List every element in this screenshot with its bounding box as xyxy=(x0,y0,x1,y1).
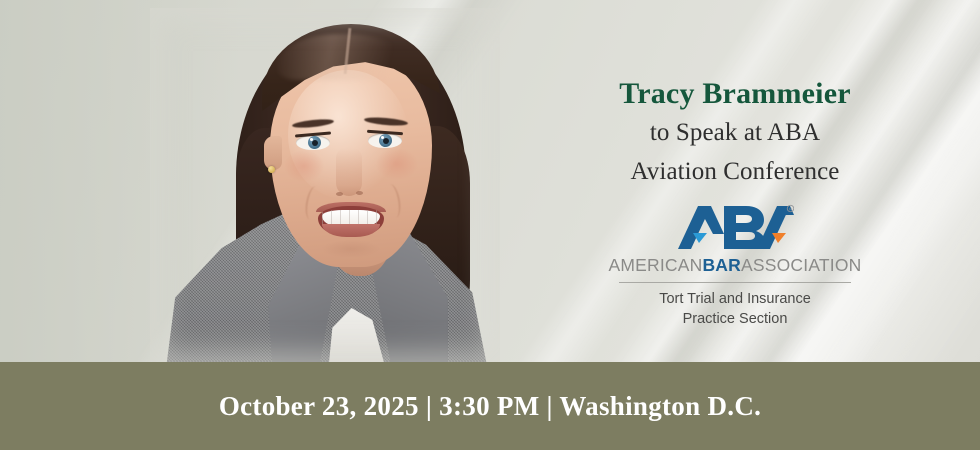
aba-wordmark: AMERICANBARASSOCIATION xyxy=(490,255,980,276)
aba-section-name: Tort Trial and Insurance Practice Sectio… xyxy=(490,290,980,329)
portrait-pupil-right xyxy=(383,138,389,144)
aba-logo-icon: R xyxy=(676,203,794,251)
portrait-nostril-right xyxy=(356,191,363,195)
speaker-portrait xyxy=(150,8,500,363)
aba-wordmark-american: AMERICAN xyxy=(608,255,702,275)
aba-section-line-1: Tort Trial and Insurance xyxy=(490,290,980,310)
portrait-chin-shadow xyxy=(322,240,380,258)
event-announcement-banner: Tracy Brammeier to Speak at ABA Aviation… xyxy=(0,0,980,450)
portrait-eye-glint-left xyxy=(310,138,313,141)
portrait-nostril-left xyxy=(336,192,343,196)
aba-divider-rule xyxy=(619,282,851,283)
aba-wordmark-bar: BAR xyxy=(702,255,741,275)
portrait-earring xyxy=(268,166,275,173)
svg-text:R: R xyxy=(789,206,792,211)
aba-section-line-2: Practice Section xyxy=(490,310,980,330)
portrait-cheek-left xyxy=(284,150,324,182)
speaker-name: Tracy Brammeier xyxy=(490,78,980,110)
event-details-bar: October 23, 2025 | 3:30 PM | Washington … xyxy=(0,362,980,450)
portrait-eye-glint-right xyxy=(381,136,384,139)
aba-wordmark-association: ASSOCIATION xyxy=(741,255,862,275)
portrait-pupil-left xyxy=(312,140,318,146)
portrait-nose xyxy=(336,148,362,196)
headline-line-2: to Speak at ABA xyxy=(490,117,980,150)
headline-block: Tracy Brammeier to Speak at ABA Aviation… xyxy=(490,78,980,189)
event-details-text: October 23, 2025 | 3:30 PM | Washington … xyxy=(219,391,761,422)
portrait-ear-left xyxy=(264,136,282,170)
headline-line-3: Aviation Conference xyxy=(490,156,980,189)
portrait-cheek-right xyxy=(376,148,418,180)
aba-logo-lockup: R AMERICANBARASSOCIATION Tort Trial and … xyxy=(490,203,980,329)
